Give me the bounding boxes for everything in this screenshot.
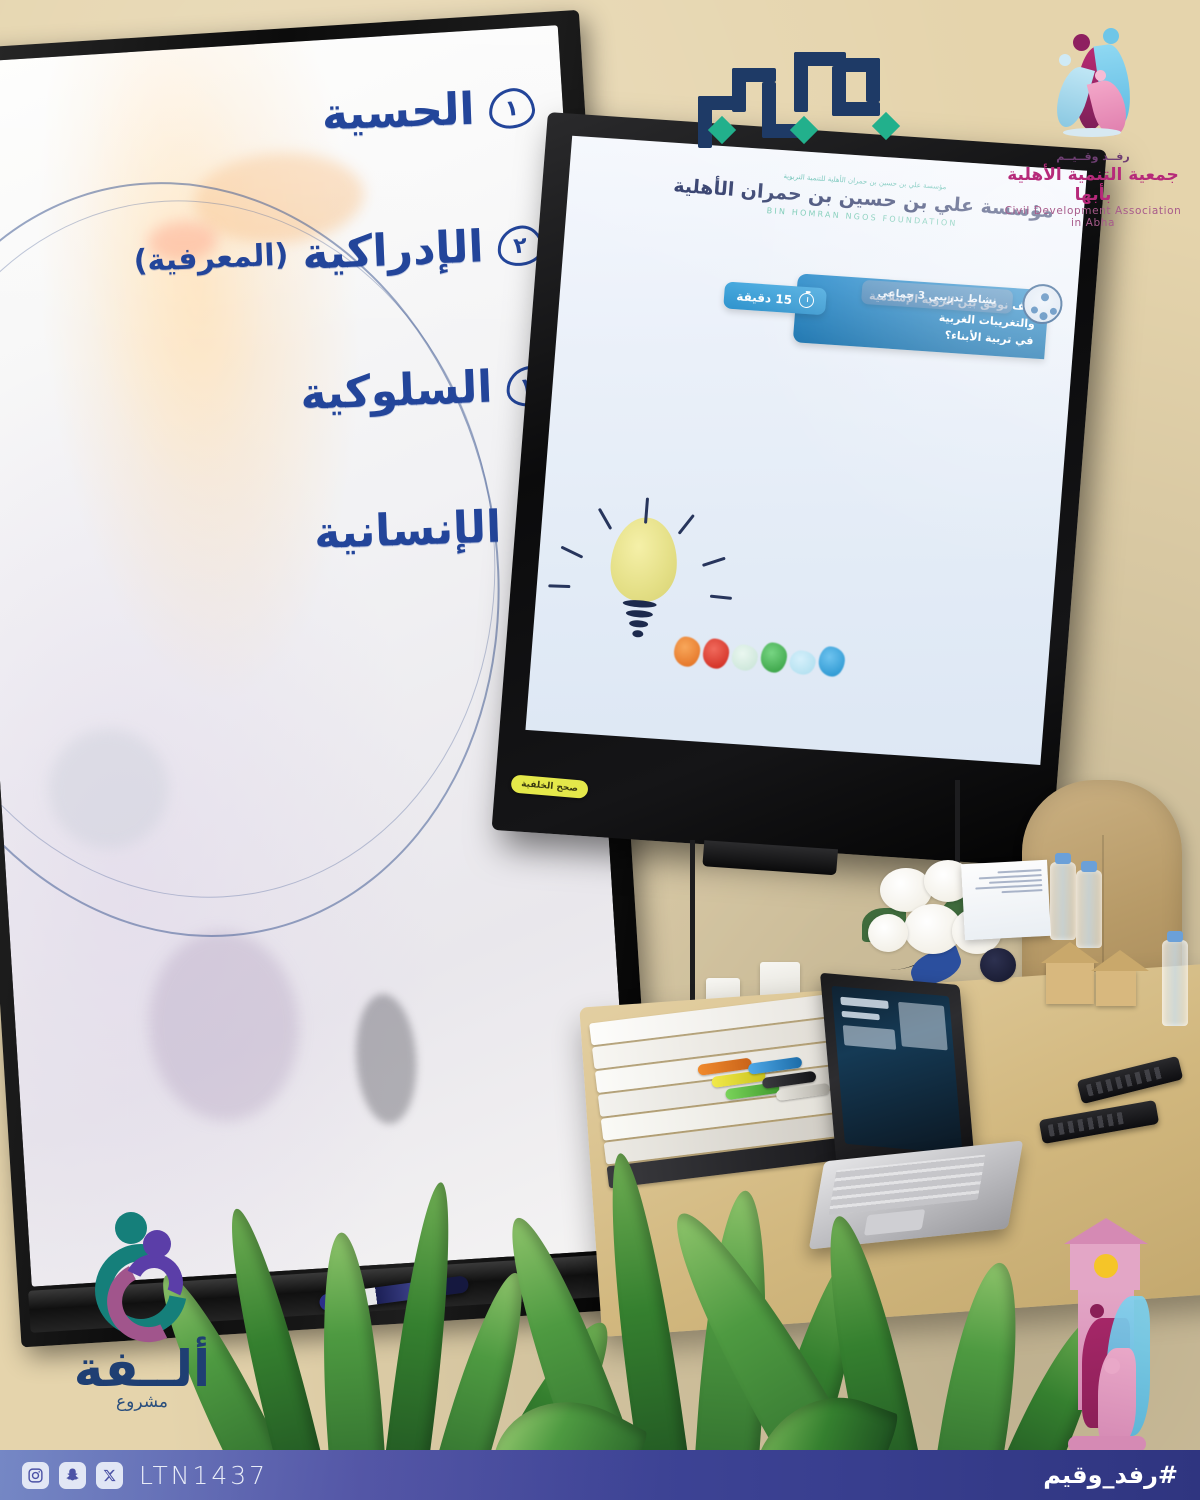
whiteboard-list-item: ١ الحسية <box>321 82 535 141</box>
timer-chip: 15 دقيقة <box>723 281 827 315</box>
list-text: الإنسانية <box>313 502 502 559</box>
water-bottle <box>1076 870 1102 948</box>
bulb-ray <box>548 584 570 588</box>
social-handle: LTN1437 <box>139 1461 268 1490</box>
lightbulb-illustration <box>554 496 887 697</box>
water-bottle <box>1050 862 1076 940</box>
bulb-glass-icon <box>608 515 680 603</box>
laptop-keyboard <box>828 1155 985 1216</box>
snapchat-icon[interactable] <box>59 1462 86 1489</box>
wooden-house-ornament <box>1096 970 1136 1006</box>
list-text: الإدراكية <box>301 221 484 280</box>
group-activity-icon <box>1021 283 1064 326</box>
bottom-brand-bar: LTN1437 #رفد_وقيم <box>0 1450 1200 1500</box>
association-mark-icon <box>1033 28 1153 148</box>
crumple-orange <box>673 636 701 668</box>
crumple-lightblue <box>789 650 817 676</box>
water-bottle <box>1162 940 1188 1026</box>
bulb-ray <box>560 546 583 559</box>
list-subtext: (المعرفية) <box>133 238 289 279</box>
activity-label: نشاط تدريبي 3 جماعي <box>861 280 1014 314</box>
dark-flower-head <box>980 948 1016 982</box>
wooden-house-ornament <box>1046 962 1094 1004</box>
stopwatch-icon <box>798 293 814 309</box>
tv-screen: مؤسسة علي بن حسين بن حمران الأهلية للتنم… <box>525 136 1087 765</box>
alifa-mark-icon <box>77 1210 207 1340</box>
laptop <box>828 980 968 1170</box>
timer-label: 15 دقيقة <box>736 289 793 307</box>
crumple-blue <box>818 646 846 678</box>
association-english-name: Civil Development Association in Abha <box>998 205 1188 229</box>
civil-development-association-logo: رفــد وقــيــم جمعية التنمية الأهلية بأب… <box>998 28 1188 229</box>
list-text: الحسية <box>321 84 476 141</box>
whiteboard-list-item: ٢ الإدراكية (المعرفية) <box>133 219 545 287</box>
bulb-base-icon <box>619 596 658 641</box>
table-card-stand <box>961 860 1051 940</box>
bulb-ray <box>598 508 612 530</box>
crumple-white <box>731 644 759 672</box>
slide-header: مؤسسة علي بن حسين بن حمران الأهلية للتنم… <box>586 155 1064 273</box>
flower-head <box>868 914 908 952</box>
bulb-ray <box>678 514 695 535</box>
rafd-waqeem-kufic-logo <box>690 38 910 148</box>
instagram-icon[interactable] <box>22 1462 49 1489</box>
crumpled-paper-row <box>673 636 846 678</box>
alifa-arabic-wordmark: ألــفة <box>42 1344 242 1394</box>
alifa-subtitle: مشروع <box>42 1392 242 1412</box>
association-arabic-name: جمعية التنمية الأهلية بأبها <box>998 165 1188 205</box>
crumple-green <box>760 642 788 674</box>
presentation-slide: مؤسسة علي بن حسين بن حمران الأهلية للتنم… <box>525 136 1087 765</box>
bulb-ray <box>702 557 726 567</box>
laptop-trackpad <box>864 1209 925 1236</box>
whiteboard-list-item: ٣ السلوكية <box>299 359 553 420</box>
association-tagline: رفــد وقــيــم <box>998 150 1188 163</box>
decorative-lantern-logo <box>1048 1208 1166 1458</box>
x-twitter-icon[interactable] <box>96 1462 123 1489</box>
list-number: ١ <box>487 86 537 131</box>
campaign-hashtag: #رفد_وقيم <box>1043 1461 1178 1489</box>
alifa-project-logo: ألــفة مشروع <box>42 1210 242 1412</box>
laptop-screen <box>831 986 962 1154</box>
list-text: السلوكية <box>299 362 493 420</box>
screenshot-root: ١ الحسية ٢ الإدراكية (المعرفية) ٣ السلوك… <box>0 0 1200 1500</box>
bulb-ray <box>710 595 732 600</box>
crumple-red <box>702 638 730 670</box>
